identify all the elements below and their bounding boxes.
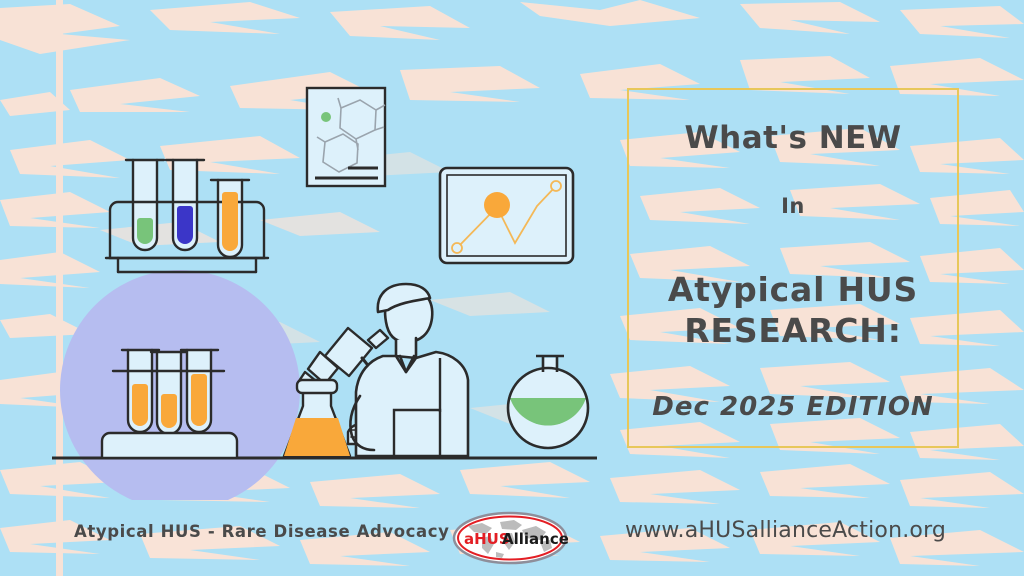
headline-title-line-2: RESEARCH: [629,311,957,350]
ahus-alliance-logo[interactable]: aHUS Alliance [452,510,568,566]
headline-panel: What's NEW In Atypical HUS RESEARCH: Dec… [627,88,959,448]
logo-text-alliance: Alliance [502,530,568,548]
headline-title-line-1: Atypical HUS [629,270,957,309]
headline-in: In [629,194,957,218]
molecule-document [307,88,385,186]
chart-node-highlight [484,192,510,218]
chart-node-end [551,181,561,191]
chart-node-start [452,243,462,253]
banner-canvas: What's NEW In Atypical HUS RESEARCH: Dec… [0,0,1024,576]
lab-illustration [0,0,640,500]
footer-url[interactable]: www.aHUSallianceAction.org [625,518,946,543]
footer: Atypical HUS - Rare Disease Advocacy aHU… [0,500,1024,576]
tablet-chart-device [440,168,573,263]
headline-edition: Dec 2025 EDITION [629,392,957,422]
scientist-neck [396,338,416,358]
headline-whats-new: What's NEW [629,120,957,156]
footer-tagline: Atypical HUS - Rare Disease Advocacy [74,522,450,541]
molecule-green-dot [321,112,331,122]
round-bottom-flask [508,356,588,448]
